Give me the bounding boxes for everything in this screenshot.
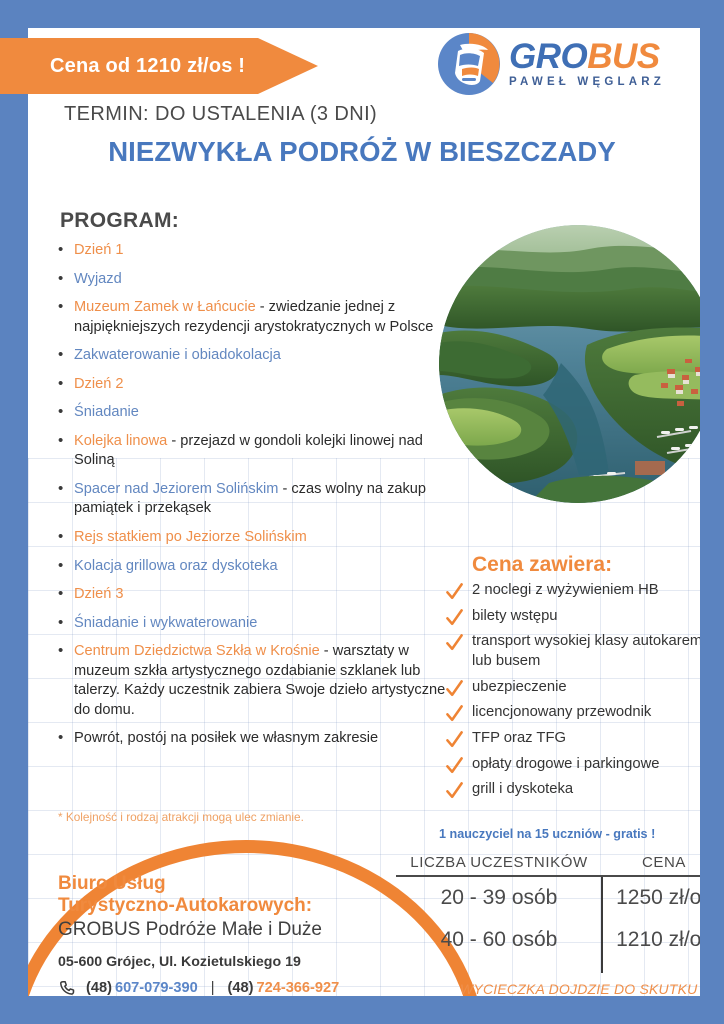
company-line-3: GROBUS Podróże Małe i Duże	[58, 918, 438, 943]
logo-wordmark: GROBUS PAWEŁ WĘGLARZ	[509, 40, 665, 88]
price-banner: Cena od 1210 zł/os !	[0, 38, 318, 94]
phone-1-prefix: (48)	[86, 980, 112, 996]
program-item-lead: Kolejka linowa	[74, 433, 167, 449]
check-icon	[445, 704, 464, 723]
program-heading: PROGRAM:	[60, 209, 179, 233]
program-list: Dzień 1WyjazdMuzeum Zamek w Łańcucie - z…	[56, 241, 448, 758]
program-item: Rejs statkiem po Jeziorze Solińskim	[56, 528, 448, 548]
program-item: Śniadanie i wykwaterowanie	[56, 614, 448, 634]
program-item: Wyjazd	[56, 270, 448, 290]
program-item: Dzień 2	[56, 375, 448, 395]
company-line-1: Biuro Usług	[58, 873, 438, 895]
price-cell: 1250 zł/os	[602, 886, 700, 910]
include-item: grill i dyskoteka	[445, 780, 700, 800]
program-item: Dzień 3	[56, 585, 448, 605]
include-item: bilety wstępu	[445, 607, 700, 627]
program-item-lead: Rejs statkiem po Jeziorze Solińskim	[74, 529, 307, 545]
program-item-lead: Spacer nad Jeziorem Solińskim	[74, 481, 278, 497]
phone-2-prefix: (48)	[228, 980, 254, 996]
check-icon	[445, 633, 464, 652]
phone-number-1[interactable]: 607-079-390	[115, 980, 198, 996]
poster-root: PROGRAM: Dzień 1WyjazdMuzeum Zamek w Łań…	[0, 0, 724, 1024]
include-item: opłaty drogowe i parkingowe	[445, 755, 700, 775]
column-header-participants: LICZBA UCZESTNIKÓW	[396, 854, 602, 871]
includes-title: Cena zawiera:	[472, 553, 612, 577]
price-table: LICZBA UCZESTNIKÓW CENA 20 - 39 osób1250…	[396, 854, 700, 961]
price-table-body: 20 - 39 osób1250 zł/os40 - 60 osób1210 z…	[396, 877, 700, 961]
program-item: Centrum Dziedzictwa Szkła w Krośnie - wa…	[56, 642, 448, 720]
include-item: transport wysokiej klasy autokarem lub b…	[445, 632, 700, 671]
logo-subtitle: PAWEŁ WĘGLARZ	[509, 76, 665, 88]
check-icon	[445, 608, 464, 627]
program-item: Dzień 1	[56, 241, 448, 261]
program-item: Spacer nad Jeziorem Solińskim - czas wol…	[56, 480, 448, 519]
program-item-lead: Śniadanie i wykwaterowanie	[74, 615, 257, 631]
program-item-lead: Dzień 2	[74, 376, 123, 392]
program-item: Śniadanie	[56, 403, 448, 423]
company-address: 05-600 Grójec, Ul. Kozietulskiego 19	[58, 954, 438, 970]
check-icon	[445, 679, 464, 698]
column-header-price: CENA	[602, 854, 700, 871]
program-item-lead: Dzień 3	[74, 586, 123, 602]
bus-circle-icon	[438, 33, 500, 95]
check-icon	[445, 582, 464, 601]
phone-row: (48) 607-079-390 | (48) 724-366-927	[58, 979, 438, 996]
page-title: NIEZWYKŁA PODRÓŻ W BIESZCZADY	[0, 136, 724, 168]
term-line: TERMIN: DO USTALENIA (3 DNI)	[64, 103, 377, 126]
poster-card: PROGRAM: Dzień 1WyjazdMuzeum Zamek w Łań…	[28, 28, 700, 996]
include-item: TFP oraz TFG	[445, 729, 700, 749]
program-item-lead: Centrum Dziedzictwa Szkła w Krośnie	[74, 643, 320, 659]
program-item: Kolejka linowa - przejazd w gondoli kole…	[56, 432, 448, 471]
price-cell: 1210 zł/os	[602, 928, 700, 952]
include-item-label: licencjonowany przewodnik	[472, 704, 651, 720]
include-item-label: opłaty drogowe i parkingowe	[472, 756, 660, 772]
company-line-2: Turystyczno-Autokarowych:	[58, 895, 438, 917]
program-item: Powrót, postój na posiłek we własnym zak…	[56, 729, 448, 749]
program-item: Kolacja grillowa oraz dyskoteka	[56, 557, 448, 577]
lake-solina-aerial-photo	[439, 225, 700, 503]
include-item-label: transport wysokiej klasy autokarem lub b…	[472, 633, 700, 669]
includes-list: 2 noclegi z wyżywieniem HBbilety wstęput…	[445, 581, 700, 806]
program-item-detail: Powrót, postój na posiłek we własnym zak…	[74, 730, 378, 746]
program-item: Muzeum Zamek w Łańcucie - zwiedzanie jed…	[56, 298, 448, 337]
price-table-row: 40 - 60 osób1210 zł/os	[396, 919, 700, 961]
price-table-row: 20 - 39 osób1250 zł/os	[396, 877, 700, 919]
price-table-header: LICZBA UCZESTNIKÓW CENA	[396, 854, 700, 875]
include-item: licencjonowany przewodnik	[445, 703, 700, 723]
phone-icon	[58, 979, 77, 996]
check-icon	[445, 730, 464, 749]
contact-block: Biuro Usług Turystyczno-Autokarowych: GR…	[58, 873, 438, 996]
price-banner-label: Cena od 1210 zł/os !	[0, 55, 245, 78]
teacher-free-note: 1 nauczyciel na 15 uczniów - gratis !	[439, 827, 655, 841]
include-item-label: ubezpieczenie	[472, 679, 567, 695]
check-icon	[445, 781, 464, 800]
program-item-lead: Śniadanie	[74, 404, 139, 420]
program-item-lead: Muzeum Zamek w Łańcucie	[74, 299, 256, 315]
price-table-divider	[601, 877, 603, 973]
include-item: 2 noclegi z wyżywieniem HB	[445, 581, 700, 601]
program-item-lead: Wyjazd	[74, 271, 122, 287]
program-item-lead: Zakwaterowanie i obiadokolacja	[74, 347, 281, 363]
phone-separator: |	[211, 980, 215, 996]
trip-minimum-note: WYCIECZKA DOJDZIE DO SKUTKU PRZY MIN. 20…	[460, 980, 697, 996]
logo-word-gro: GRO	[509, 37, 587, 76]
logo-word-row: GROBUS	[509, 40, 665, 74]
logo-word-bus: BUS	[587, 37, 659, 76]
program-item-lead: Kolacja grillowa oraz dyskoteka	[74, 558, 278, 574]
include-item-label: 2 noclegi z wyżywieniem HB	[472, 582, 659, 598]
program-item: Zakwaterowanie i obiadokolacja	[56, 346, 448, 366]
program-item-lead: Dzień 1	[74, 242, 123, 258]
grobus-logo: GROBUS PAWEŁ WĘGLARZ	[438, 33, 696, 95]
check-icon	[445, 756, 464, 775]
phone-number-2[interactable]: 724-366-927	[256, 980, 339, 996]
program-footnote: * Kolejność i rodzaj atrakcji mogą ulec …	[58, 810, 304, 824]
include-item: ubezpieczenie	[445, 678, 700, 698]
include-item-label: grill i dyskoteka	[472, 781, 573, 797]
trip-note-line1: WYCIECZKA DOJDZIE DO SKUTKU	[460, 980, 697, 996]
include-item-label: TFP oraz TFG	[472, 730, 566, 746]
include-item-label: bilety wstępu	[472, 608, 558, 624]
